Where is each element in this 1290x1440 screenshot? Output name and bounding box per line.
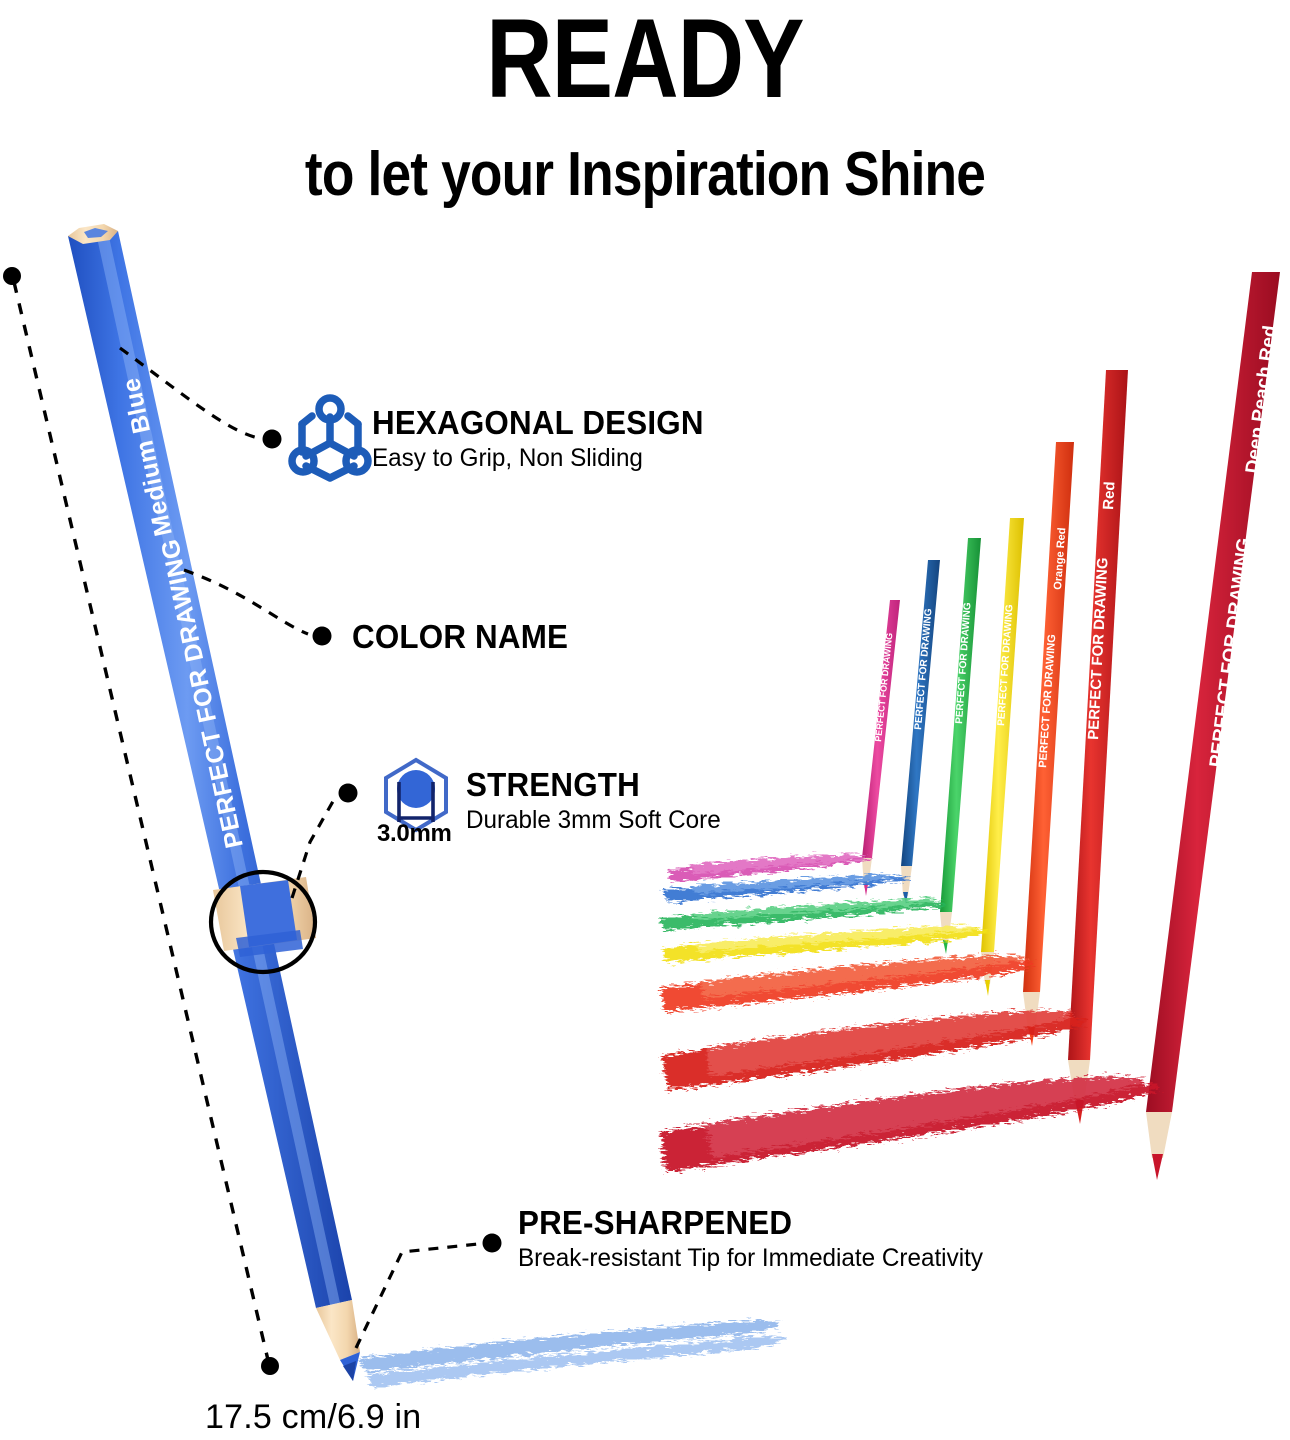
fan-pencil-ocean-blue: PERFECT FOR DRAWING [901, 560, 940, 904]
callout-strength-subtitle: Durable 3mm Soft Core [466, 806, 721, 835]
callout-hexagonal-design-subtitle: Easy to Grip, Non Sliding [372, 444, 711, 473]
length-label: 17.5 cm/6.9 in [205, 1398, 421, 1437]
fan-pencil-red-color-name: Red [1100, 481, 1118, 510]
leader-dot-hexagonal-design [263, 430, 282, 449]
callout-hexagonal-design: HEXAGONAL DESIGN Easy to Grip, Non Slidi… [372, 404, 721, 473]
leader-dot-color-name [313, 627, 332, 646]
hexagon-molecule-icon [292, 398, 368, 478]
fan-pencil-red: Red PERFECT FOR DRAWING [1068, 370, 1128, 1124]
leader-dot-pre-sharpened [483, 1234, 502, 1253]
fan-pencil-deep-peach-red: Deep Peach Red PERFECT FOR DRAWING [1146, 272, 1281, 1180]
callout-pre-sharpened-subtitle: Break-resistant Tip for Immediate Creati… [518, 1244, 983, 1273]
leader-dot-strength [339, 784, 358, 803]
callout-pre-sharpened-title: PRE-SHARPENED [518, 1204, 973, 1242]
core-diameter-label: 3.0mm [377, 820, 452, 848]
fan-pencil-orange-red: Orange Red PERFECT FOR DRAWING [1023, 442, 1074, 1046]
callout-color-name-title: COLOR NAME [352, 618, 568, 656]
featured-pencil-medium-blue: Medium Blue PERFECT FOR DRAWING [68, 224, 360, 1381]
fan-pencil-green: PERFECT FOR DRAWING [940, 538, 981, 954]
callout-color-name: COLOR NAME [352, 618, 580, 656]
leader-line-pre-sharpened [356, 1244, 478, 1348]
fan-pencil-yellow: PERFECT FOR DRAWING [981, 518, 1024, 996]
callout-strength-title: STRENGTH [466, 766, 715, 804]
fan-pencil-magenta-imprint: PERFECT FOR DRAWING [873, 632, 894, 742]
callout-strength: STRENGTH Durable 3mm Soft Core [466, 766, 729, 835]
infographic-canvas: READY to let your Inspiration Shine [0, 0, 1290, 1440]
callout-pre-sharpened: PRE-SHARPENED Break-resistant Tip for Im… [518, 1204, 997, 1273]
fan-pencil-magenta: PERFECT FOR DRAWING [862, 600, 900, 896]
callout-hexagonal-design-title: HEXAGONAL DESIGN [372, 404, 704, 442]
scribble-stroke-blue [360, 1321, 785, 1388]
fan-pencil-ocean-blue-imprint: PERFECT FOR DRAWING [913, 608, 935, 730]
